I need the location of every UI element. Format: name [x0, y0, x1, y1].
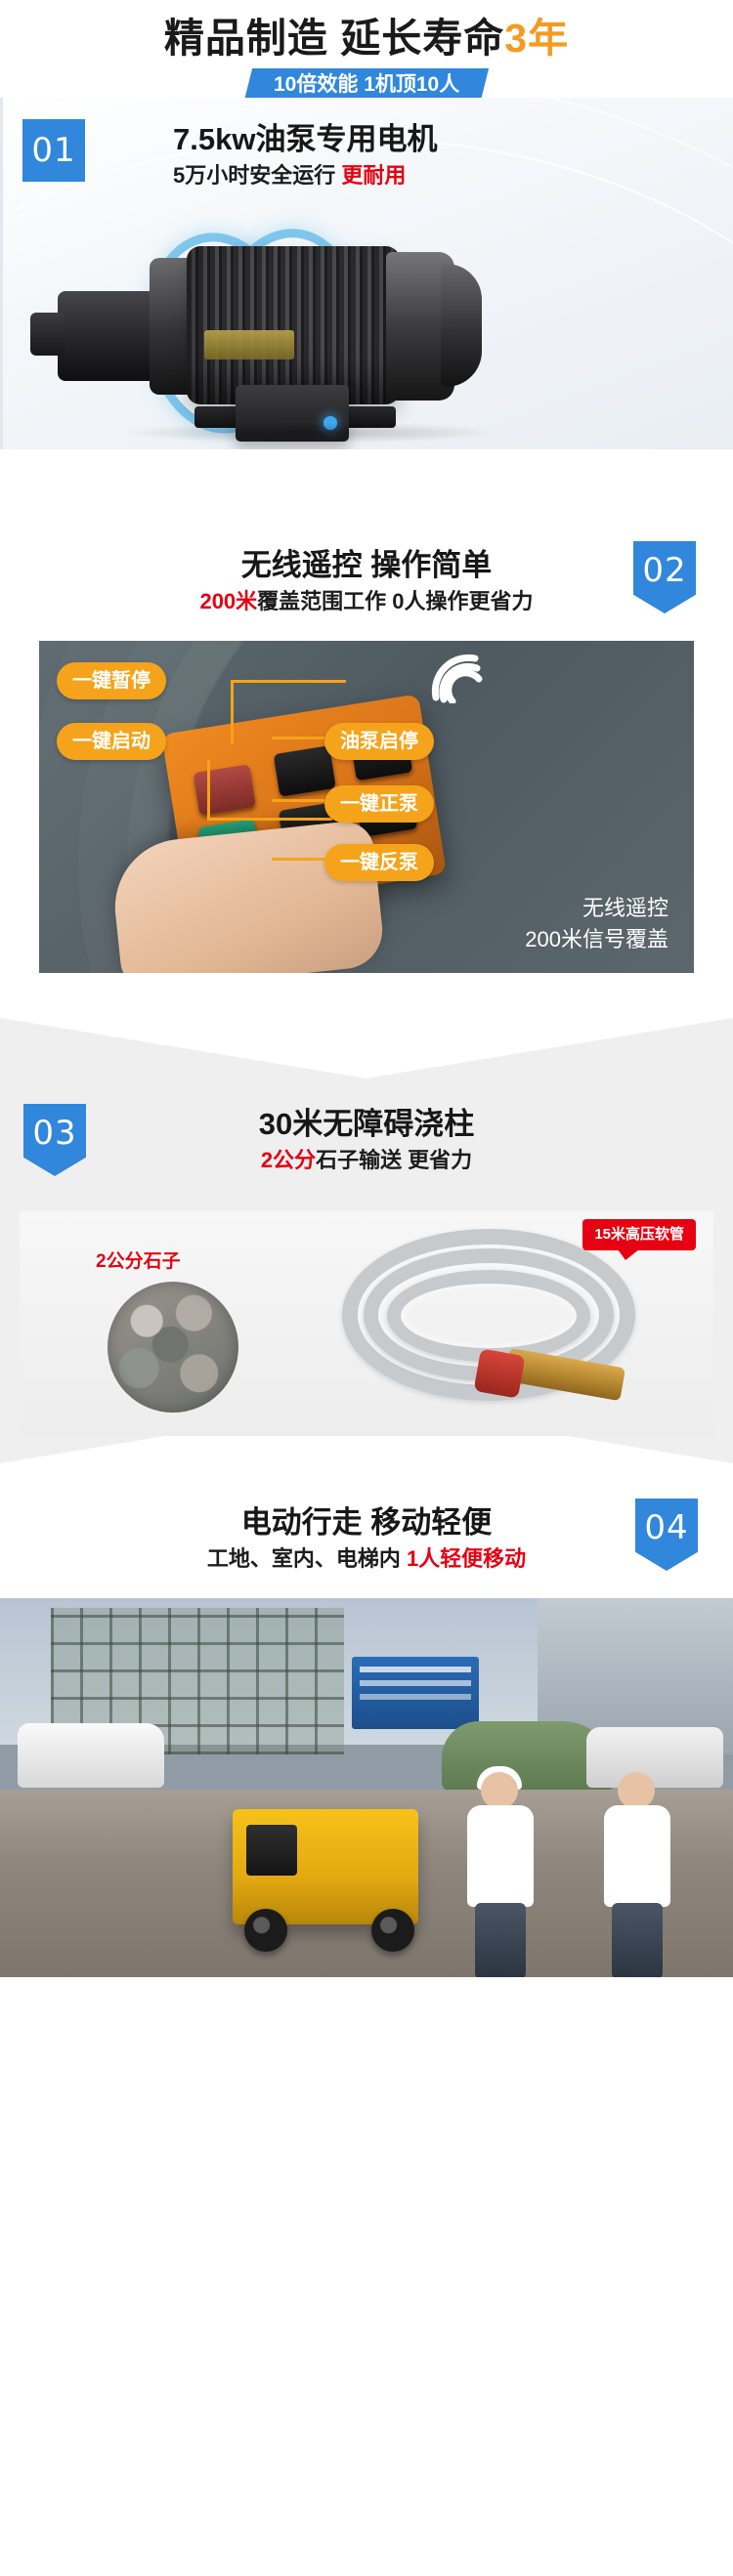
- site-safety-banner: [352, 1657, 479, 1729]
- section-02-header: 无线遥控 操作简单 200米覆盖范围工作 0人操作更省力 02: [0, 535, 733, 633]
- worker-bystander: [596, 1772, 678, 1977]
- section-01-subtitle: 5万小时安全运行 更耐用: [173, 160, 437, 191]
- section-04-title: 电动行走 移动轻便: [0, 1502, 733, 1543]
- operator-hand: [108, 819, 386, 973]
- motor-stator: [187, 246, 400, 404]
- leader-line-start: [207, 760, 332, 821]
- section-01-motor: 01 7.5kw油泵专用电机 5万小时安全运行 更耐用: [0, 98, 733, 449]
- header-ribbon-wrap: 10倍效能 1机顶10人: [0, 68, 733, 101]
- section-02-photo: 一键暂停 一键启动 油泵启停 一键正泵 一键反泵 无线遥控 200米信号覆盖: [39, 641, 694, 973]
- section-01-text: 7.5kw油泵专用电机 5万小时安全运行 更耐用: [173, 119, 437, 191]
- section-01-subtitle-highlight: 更耐用: [341, 163, 406, 188]
- gravel-stones-photo: [108, 1282, 238, 1413]
- worker-legs: [475, 1903, 526, 1977]
- section-03-header: 03 30米无障碍浇柱 2公分石子输送 更省力: [0, 1104, 733, 1198]
- hose-red-coupler: [474, 1348, 526, 1398]
- section-04-badge: 04: [635, 1499, 698, 1571]
- leader-line-reverse: [272, 858, 324, 861]
- section-04-titles: 电动行走 移动轻便 工地、室内、电梯内 1人轻便移动: [0, 1499, 733, 1575]
- page-title-main: 精品制造 延长寿命: [164, 16, 504, 61]
- section-03-subtitle-highlight: 2公分: [261, 1148, 316, 1172]
- section-01-title: 7.5kw油泵专用电机: [173, 119, 437, 160]
- wifi-signal-icon: [430, 653, 493, 703]
- section-04-subtitle: 工地、室内、电梯内 1人轻便移动: [0, 1543, 733, 1575]
- product-detail-page: 精品制造 延长寿命3年 10倍效能 1机顶10人 01 7.5kw油泵专用电机 …: [0, 0, 733, 2576]
- section-02-subtitle-plain: 覆盖范围工作 0人操作更省力: [257, 589, 533, 613]
- callout-reverse-pump: 一键反泵: [324, 844, 434, 881]
- section-02-remote: 无线遥控 操作简单 200米覆盖范围工作 0人操作更省力 02: [0, 535, 733, 973]
- worker-operator: [459, 1772, 541, 1977]
- section-01-header: 01 7.5kw油泵专用电机 5万小时安全运行 更耐用: [3, 119, 733, 191]
- leader-line-oilpump: [272, 737, 324, 739]
- section-01-badge: 01: [22, 119, 85, 182]
- hose-length-label: 15米高压软管: [582, 1219, 696, 1250]
- section-04-badge-wrap: 04: [635, 1499, 698, 1571]
- section-04-header: 电动行走 移动轻便 工地、室内、电梯内 1人轻便移动 04: [0, 1499, 733, 1598]
- section-04-subtitle-plain: 工地、室内、电梯内: [207, 1546, 407, 1571]
- bystander-torso: [604, 1805, 670, 1907]
- spacer-after-section-01: [0, 449, 733, 535]
- section-02-subtitle: 200米覆盖范围工作 0人操作更省力: [0, 586, 733, 617]
- section-03-badge-wrap: 03: [23, 1104, 86, 1176]
- header-ribbon-label: 10倍效能 1机顶10人: [274, 68, 459, 101]
- section-02-subtitle-highlight: 200米: [199, 589, 257, 613]
- section-04-subtitle-highlight: 1人轻便移动: [407, 1546, 526, 1571]
- concrete-pump-machine: [233, 1809, 418, 1924]
- section-03-title: 30米无障碍浇柱: [20, 1104, 713, 1145]
- machine-control-panel: [246, 1825, 297, 1876]
- worker-head: [481, 1772, 518, 1809]
- bystander-legs: [612, 1903, 663, 1977]
- section-03-photo: 2公分石子 15米高压软管: [20, 1211, 713, 1436]
- section-03-subtitle-plain: 石子输送 更省力: [316, 1148, 472, 1172]
- header-ribbon: 10倍效能 1机顶10人: [244, 68, 489, 101]
- section-03-band: 03 30米无障碍浇柱 2公分石子输送 更省力 2公分石子: [0, 1018, 733, 1463]
- section-02-badge: 02: [633, 541, 696, 613]
- motor-shadow: [120, 422, 501, 443]
- hose-coil-inner: [387, 1270, 590, 1362]
- section-01-subtitle-plain: 5万小时安全运行: [173, 163, 341, 188]
- leader-line-forward: [272, 799, 324, 802]
- motor-endbell: [441, 264, 482, 387]
- page-header: 精品制造 延长寿命3年 10倍效能 1机顶10人: [0, 0, 733, 98]
- hose-coil-illustration: [313, 1225, 665, 1416]
- page-title: 精品制造 延长寿命3年: [0, 14, 733, 63]
- callout-oil-pump: 油泵启停: [324, 723, 434, 760]
- section-03-badge: 03: [23, 1104, 86, 1176]
- stone-size-label: 2公分石子: [96, 1246, 181, 1273]
- page-title-highlight: 3年: [504, 16, 569, 61]
- machine-wheel-right: [371, 1909, 414, 1952]
- section-02-title: 无线遥控 操作简单: [0, 545, 733, 586]
- motor-nameplate: [204, 330, 294, 359]
- callout-forward-pump: 一键正泵: [324, 785, 434, 823]
- callout-pause: 一键暂停: [57, 662, 166, 699]
- section-02-titles: 无线遥控 操作简单 200米覆盖范围工作 0人操作更省力: [0, 545, 733, 617]
- section-02-caption-line2: 200米信号覆盖: [525, 924, 668, 955]
- bystander-head: [618, 1772, 655, 1809]
- machine-wheel-left: [244, 1909, 287, 1952]
- section-03-content: 03 30米无障碍浇柱 2公分石子输送 更省力 2公分石子: [0, 1018, 733, 1436]
- section-02-caption: 无线遥控 200米信号覆盖: [525, 893, 668, 955]
- section-04-mobility: 电动行走 移动轻便 工地、室内、电梯内 1人轻便移动 04: [0, 1499, 733, 1977]
- section-03-titles: 30米无障碍浇柱 2公分石子输送 更省力: [20, 1104, 713, 1176]
- worker-torso: [467, 1805, 534, 1907]
- section-03-subtitle: 2公分石子输送 更省力: [20, 1145, 713, 1176]
- section-01-motor-illustration: [3, 213, 733, 449]
- section-04-photo: [0, 1598, 733, 1977]
- section-02-caption-line1: 无线遥控: [525, 893, 668, 924]
- callout-start: 一键启动: [57, 723, 166, 760]
- white-van-left: [18, 1723, 164, 1788]
- section-02-badge-wrap: 02: [633, 541, 696, 613]
